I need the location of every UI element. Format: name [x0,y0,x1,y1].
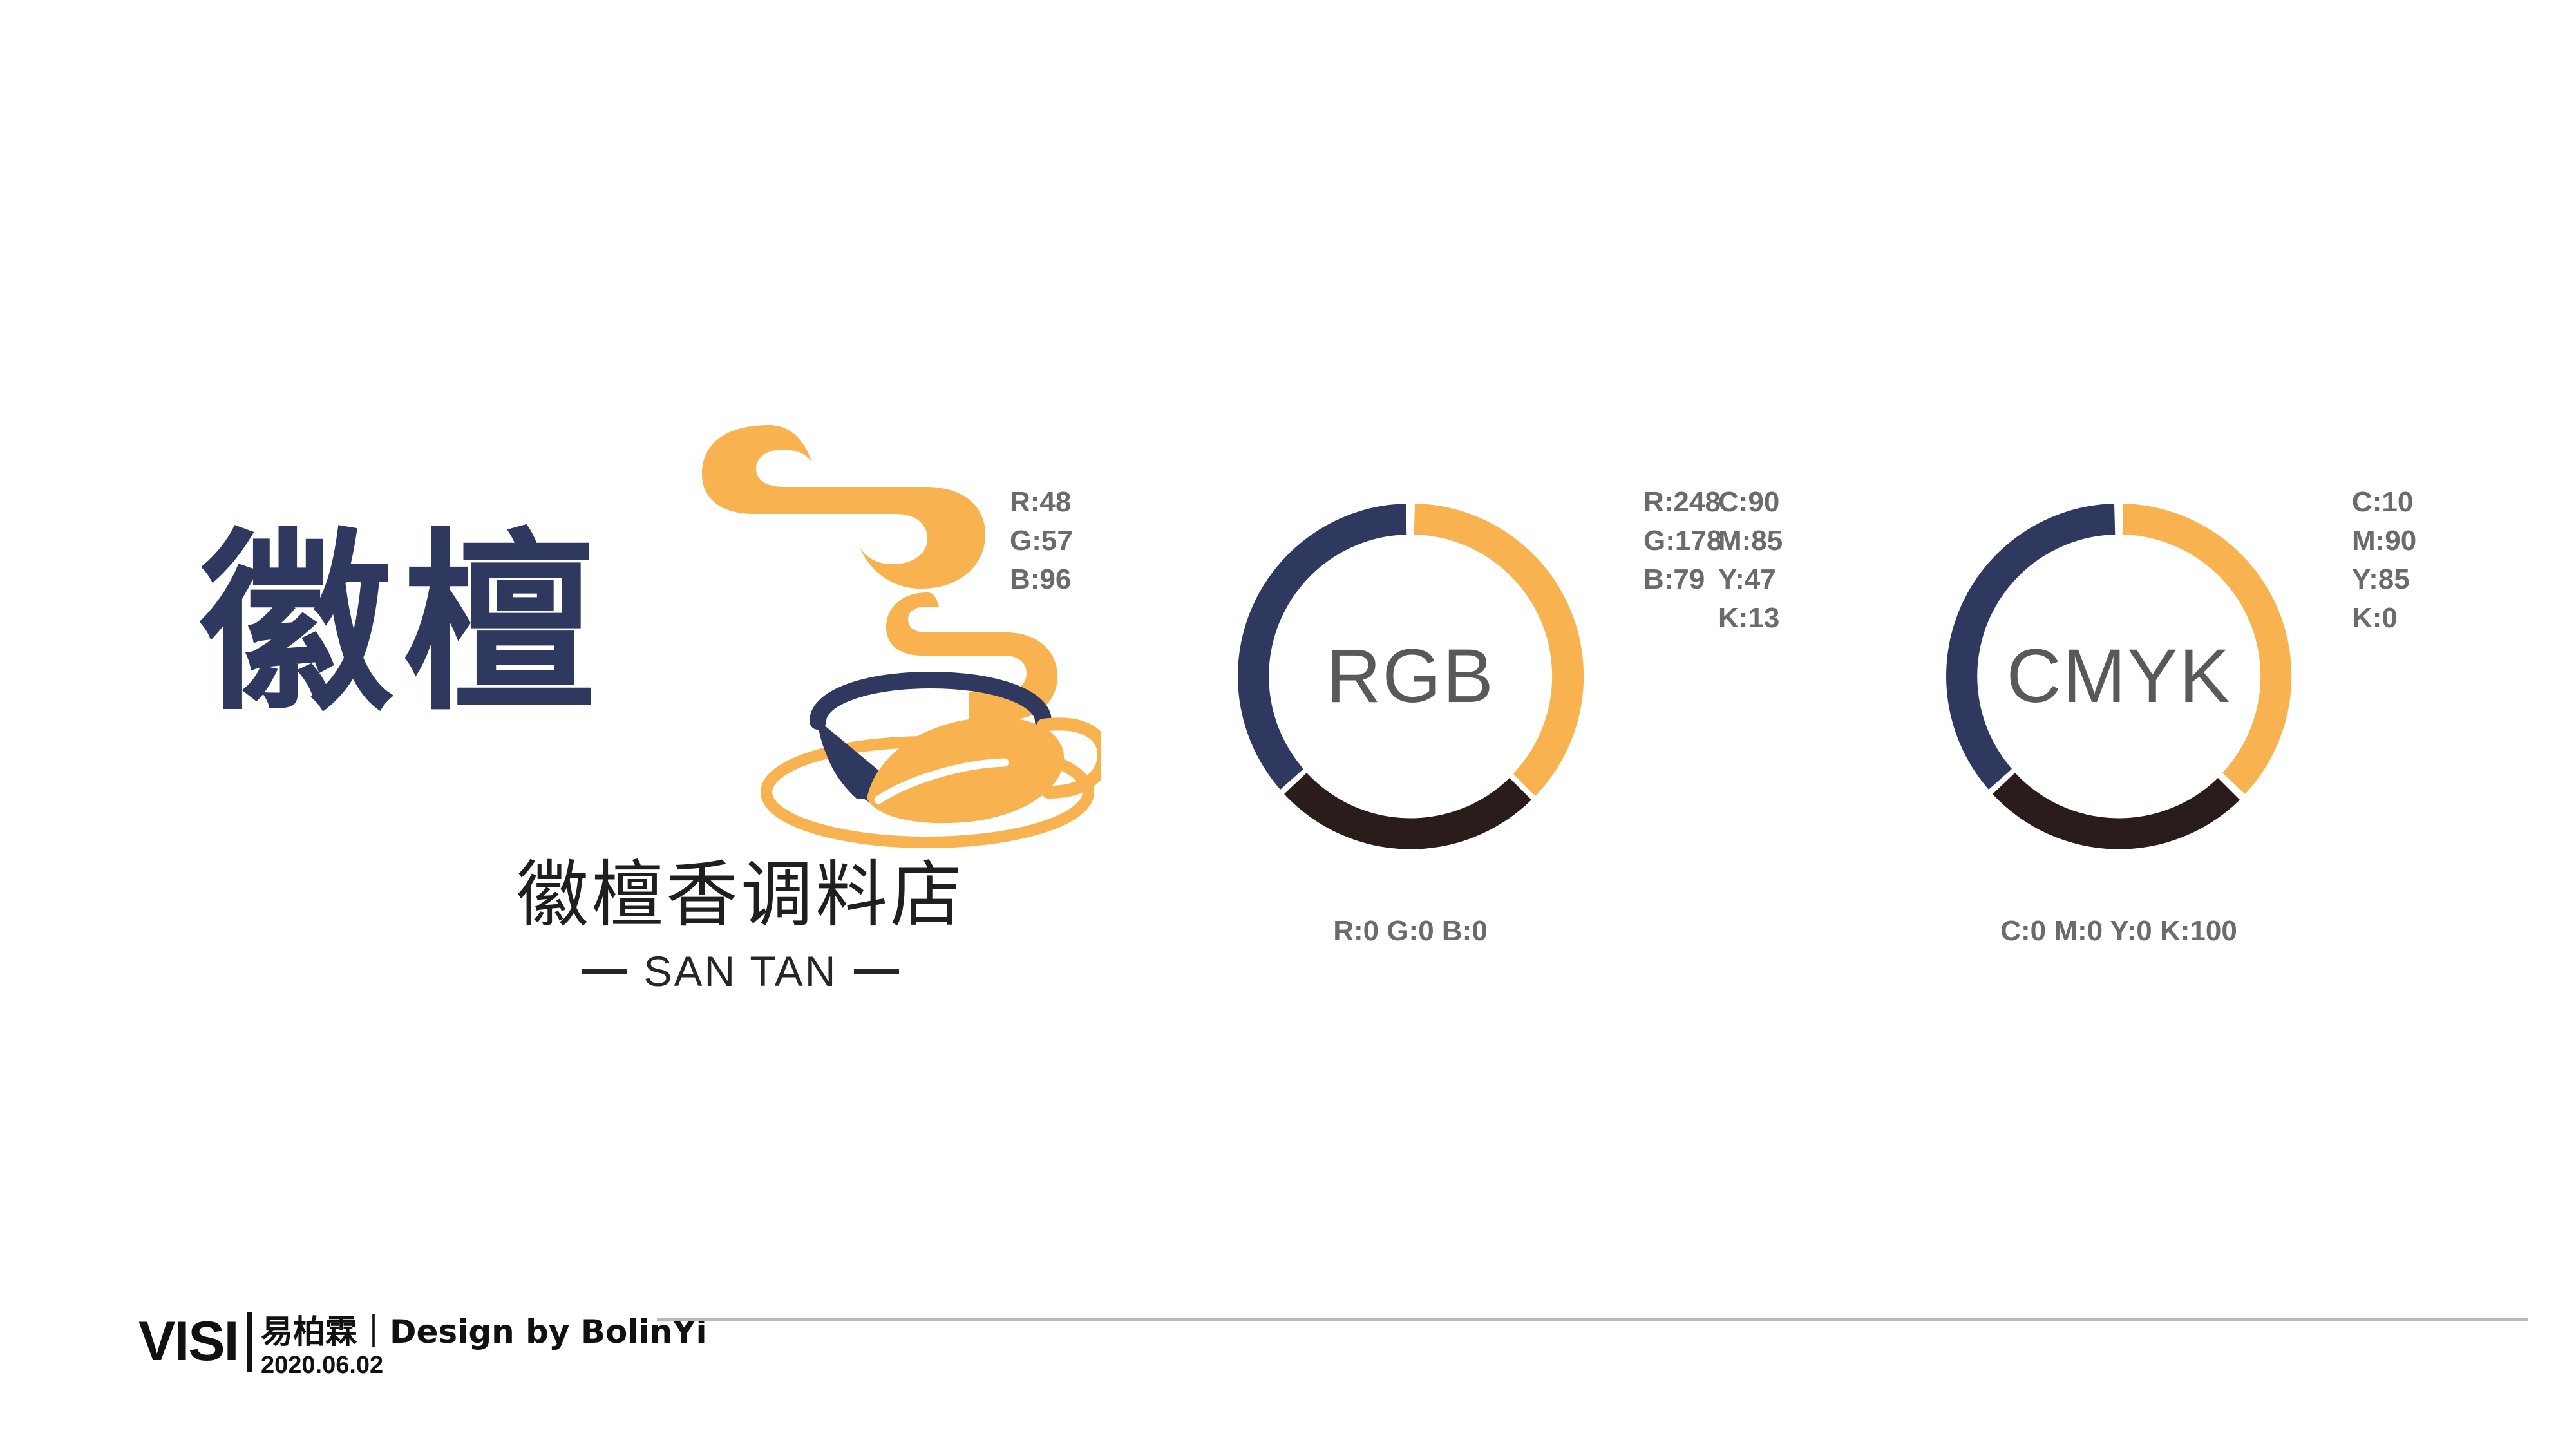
footer-divider-bar [247,1312,252,1372]
logo-wordmark: 徽檀 [200,515,779,760]
footer-date-text: 2020.06.02 [261,1352,383,1378]
rgb-color-donut-chart: RGB R:48 G:57 B:96 R:248 G:178 B:79 R:0 … [1185,451,1636,902]
cmyk-orange-swatch-label: C:10 M:90 Y:85 K:0 [2352,483,2416,638]
rgb-navy-swatch-label: R:48 G:57 B:96 [1010,483,1177,599]
cmyk-center-label: CMYK [1893,451,2344,902]
rgb-black-swatch-label: R:0 G:0 B:0 [1333,912,1488,951]
page-footer: VISI 易柏霖｜Design by BolinYi 2020.06.02 [138,1307,2521,1404]
cmyk-navy-swatch-label: C:90 M:85 Y:47 K:13 [1718,483,1886,638]
logo-latin-name: SAN TAN [187,947,1101,996]
footer-horizontal-rule [657,1318,2528,1321]
cmyk-color-donut-chart: CMYK C:90 M:85 Y:47 K:13 C:10 M:90 Y:85 … [1893,451,2344,902]
footer-credit-text: 易柏霖｜Design by BolinYi [261,1315,707,1349]
brand-logo-block: 徽檀 徽檀香调料店 SAN TAN [187,348,1101,1037]
latin-rule-left [582,969,627,974]
rgb-orange-swatch-label: R:248 G:178 B:79 [1643,483,1722,599]
logo-subtitle: 徽檀香调料店 [187,857,1101,934]
footer-visi-label: VISI [138,1314,238,1369]
rgb-center-label: RGB [1185,451,1636,902]
cmyk-black-swatch-label: C:0 M:0 Y:0 K:100 [2000,912,2237,951]
latin-name-text: SAN TAN [644,947,838,995]
page-canvas: 徽檀 徽檀香调料店 SAN TAN RGB R:48 G:57 B:96 R:2… [0,0,2576,1449]
latin-rule-right [854,969,899,974]
